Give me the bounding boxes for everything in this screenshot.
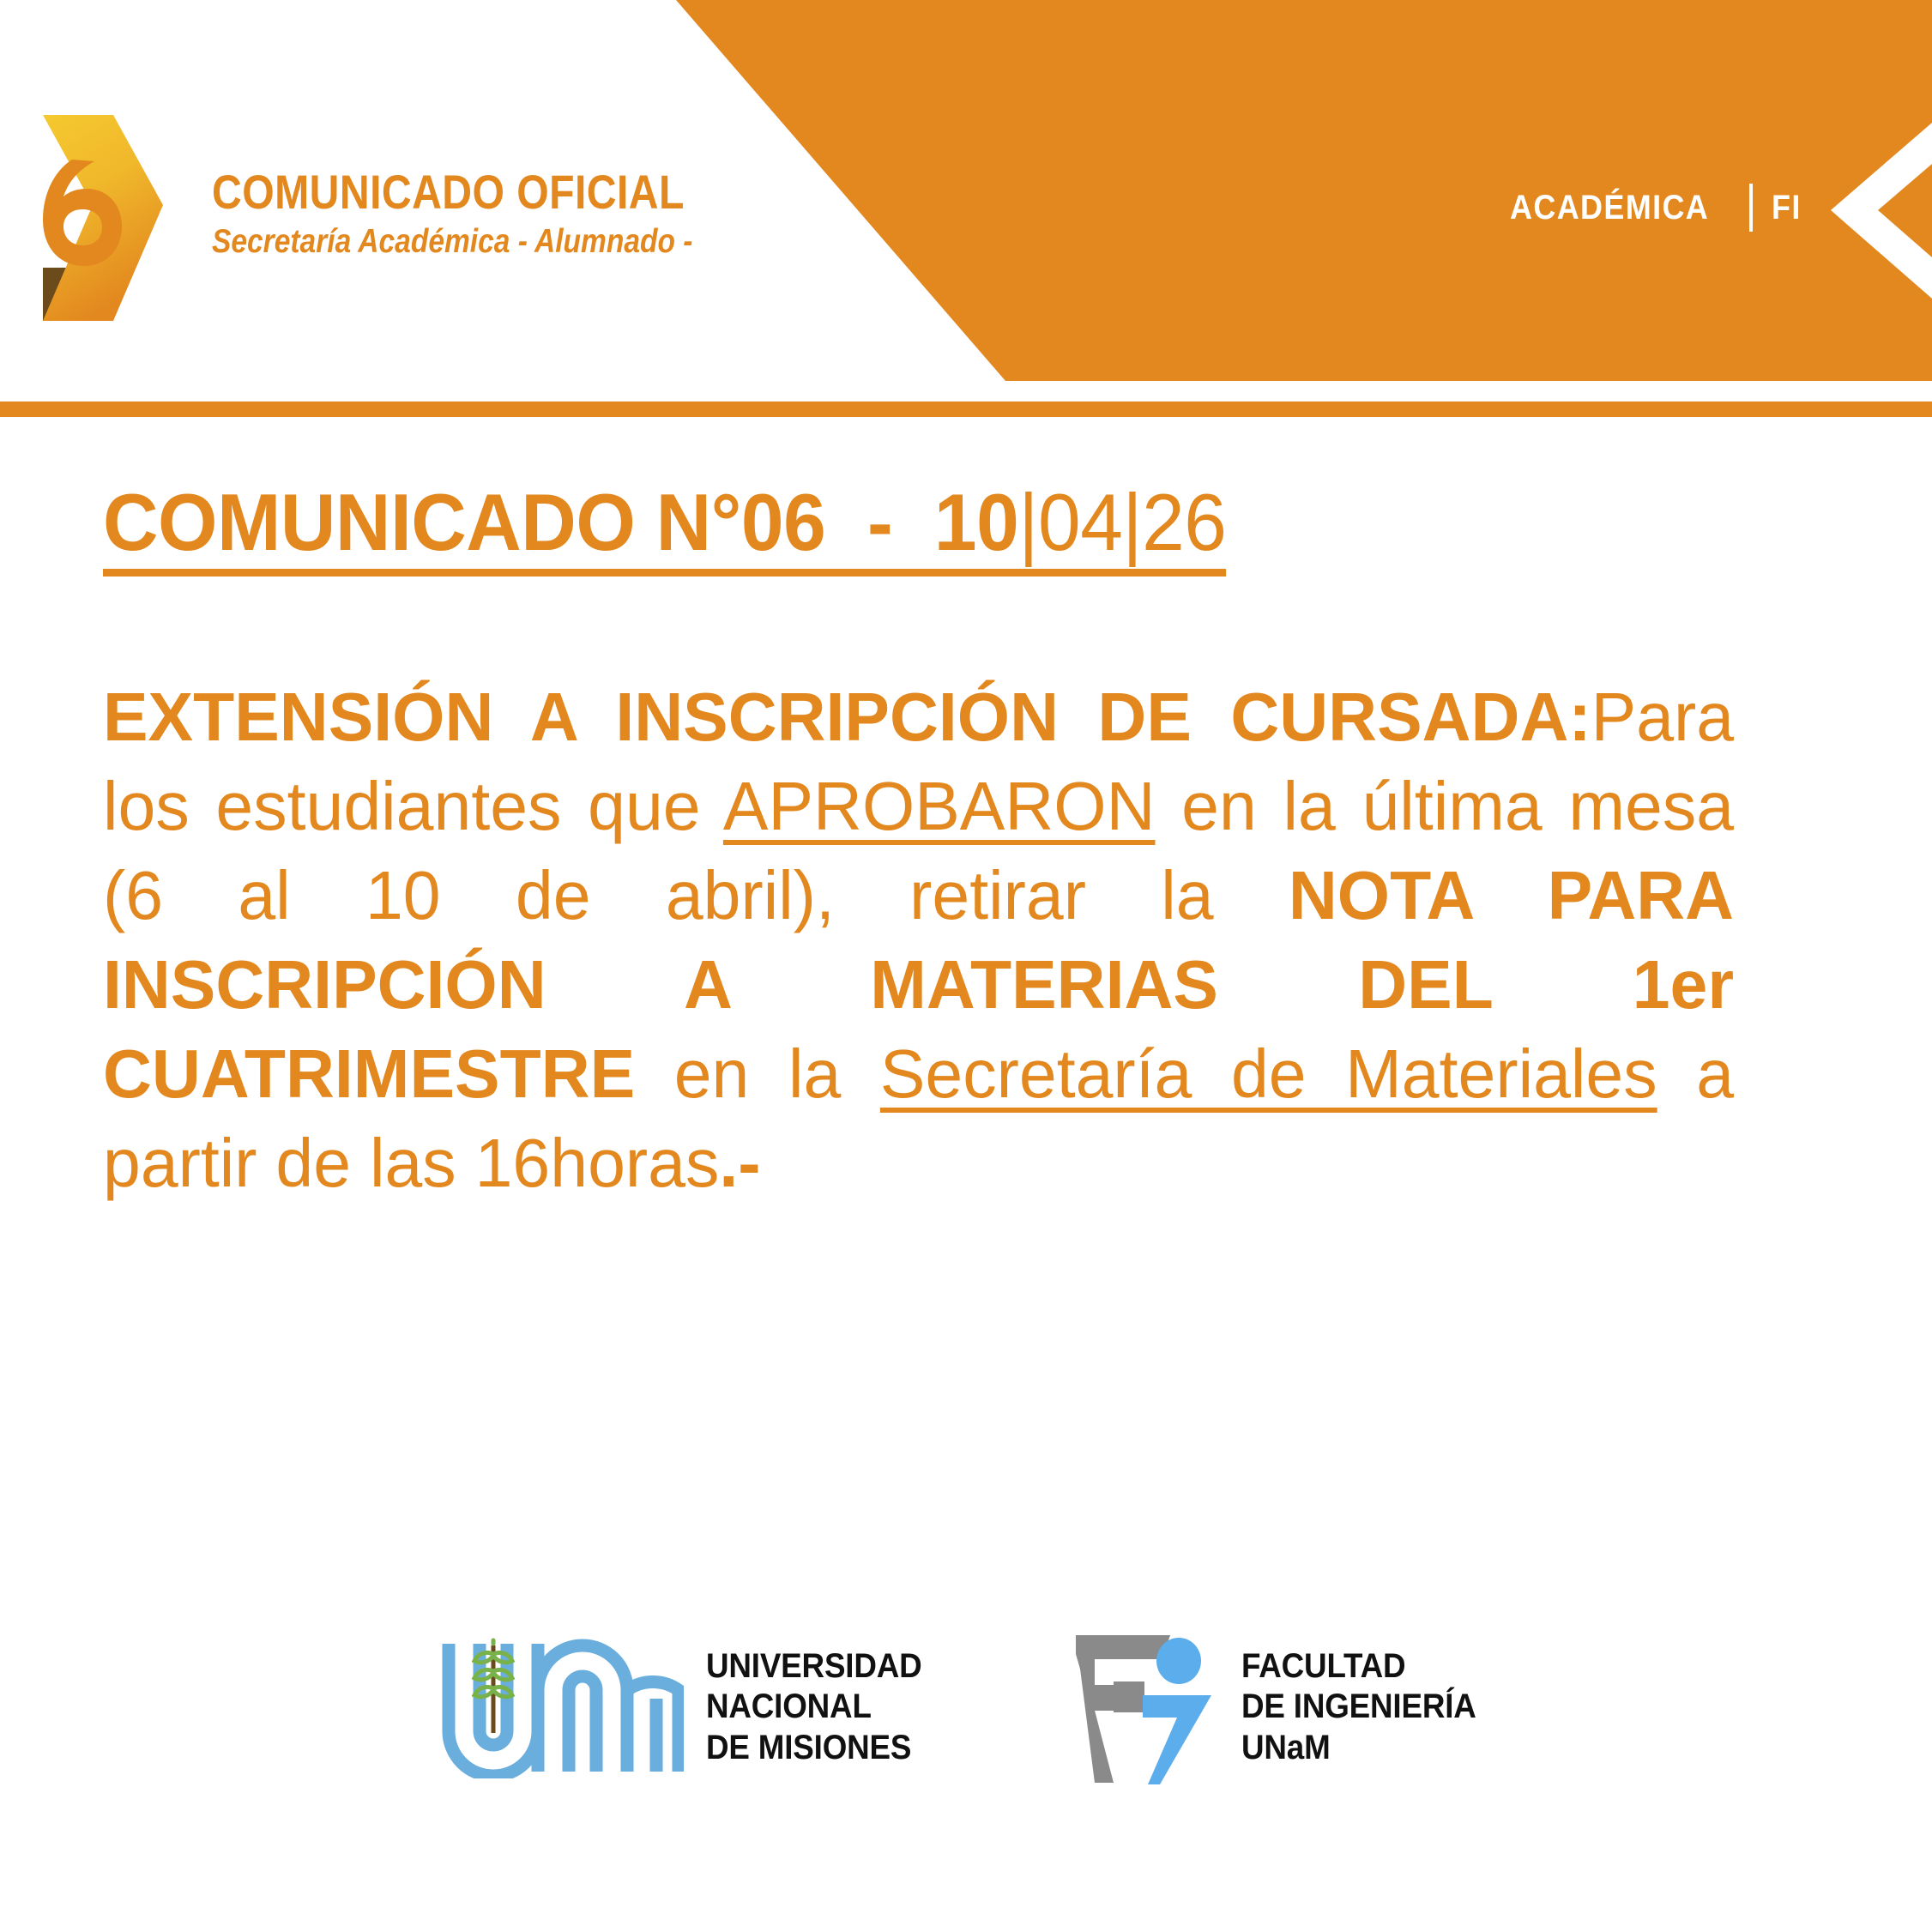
unam-line-3: DE MISIONES [706, 1728, 922, 1768]
header-department-fi: FI [1772, 189, 1802, 227]
announcement-seg-5: en la [635, 1035, 880, 1112]
facultad-ingenieria-logo-block: FACULTAD DE INGENIERÍA UNaM [1069, 1628, 1496, 1787]
comunicado-date-month: 04 [1038, 477, 1122, 567]
announcement-seg-8: .- [719, 1125, 760, 1201]
header-logo-title: COMUNICADO OFICIAL [212, 168, 728, 216]
comunicado-date-sep-2: | [1122, 477, 1142, 567]
footer-logos: UNIVERSIDAD NACIONAL DE MISIONES FACULTA… [0, 1596, 1932, 1819]
unam-logo-block: UNIVERSIDAD NACIONAL DE MISIONES [435, 1637, 940, 1778]
unam-logo-icon [435, 1637, 684, 1778]
header-department-academica: ACADÉMICA [1510, 189, 1709, 227]
announcement-body: EXTENSIÓN A INSCRIPCIÓN DE CURSADA:Para … [103, 673, 1734, 1208]
unam-line-1: UNIVERSIDAD [706, 1646, 922, 1687]
comunicado-separator: - [867, 477, 892, 567]
facultad-ingenieria-logo-label: FACULTAD DE INGENIERÍA UNaM [1241, 1646, 1476, 1768]
announcement-aprobaron-underlined: APROBARON [723, 768, 1156, 844]
header-department-label: ACADÉMICA FI [1510, 184, 1805, 232]
comunicado-title: COMUNICADO N°06 - 10|04|26 [103, 480, 1227, 577]
content-area: COMUNICADO N°06 - 10|04|26 EXTENSIÓN A I… [103, 480, 1810, 1208]
comunicado-hexagon-logo-icon [19, 89, 165, 321]
header-logo-text-block: COMUNICADO OFICIAL Secretaría Académica … [212, 168, 812, 258]
fi-line-1: FACULTAD [1241, 1646, 1476, 1687]
header-label-divider [1749, 184, 1753, 232]
header-banner: COMUNICADO OFICIAL Secretaría Académica … [0, 0, 1932, 401]
announcement-heading-colon: : [1568, 679, 1591, 755]
announcement-secretaria-underlined: Secretaría de Materiales [880, 1035, 1657, 1112]
comunicado-number-label: COMUNICADO N°06 [103, 477, 825, 567]
comunicado-date-sep-1: | [1018, 477, 1038, 567]
poster-canvas: COMUNICADO OFICIAL Secretaría Académica … [0, 0, 1932, 1932]
header-bottom-rule [0, 401, 1932, 417]
fi-line-3: UNaM [1241, 1728, 1476, 1768]
unam-line-2: NACIONAL [706, 1687, 922, 1727]
facultad-ingenieria-logo-icon [1069, 1628, 1219, 1787]
comunicado-date-day: 10 [934, 477, 1018, 567]
fi-line-2: DE INGENIERÍA [1241, 1687, 1476, 1727]
header-logo-subtitle: Secretaría Académica - Alumnado - [212, 225, 728, 258]
comunicado-date-year: 26 [1142, 477, 1226, 567]
unam-logo-label: UNIVERSIDAD NACIONAL DE MISIONES [706, 1646, 922, 1768]
chevron-left-icon [1831, 123, 1932, 299]
announcement-heading: EXTENSIÓN A INSCRIPCIÓN DE CURSADA [103, 679, 1568, 755]
